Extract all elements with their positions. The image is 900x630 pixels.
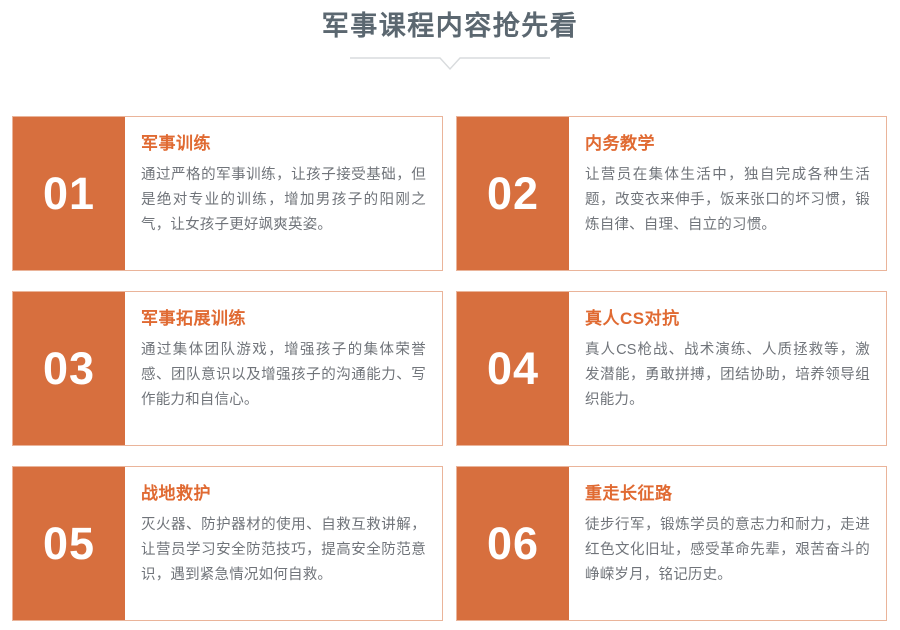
- card-body: 内务教学 让营员在集体生活中，独自完成各种生活题，改变衣来伸手，饭来张口的坏习惯…: [569, 117, 886, 270]
- card-number-block: 01: [13, 117, 125, 270]
- card-description: 徒步行军，锻炼学员的意志力和耐力，走进红色文化旧址，感受革命先辈，艰苦奋斗的峥嵘…: [585, 513, 870, 588]
- card-description: 通过集体团队游戏，增强孩子的集体荣誉感、团队意识以及增强孩子的沟通能力、写作能力…: [141, 338, 426, 413]
- page-header: 军事课程内容抢先看: [0, 0, 900, 100]
- card-number: 04: [487, 346, 539, 391]
- card-number-block: 03: [13, 292, 125, 445]
- card-description: 真人CS枪战、战术演练、人质拯救等，激发潜能，勇敢拼搏，团结协助，培养领导组织能…: [585, 338, 870, 413]
- card-body: 重走长征路 徒步行军，锻炼学员的意志力和耐力，走进红色文化旧址，感受革命先辈，艰…: [569, 467, 886, 620]
- course-card[interactable]: 05 战地救护 灭火器、防护器材的使用、自救互救讲解，让营员学习安全防范技巧，提…: [12, 466, 443, 621]
- course-card[interactable]: 01 军事训练 通过严格的军事训练，让孩子接受基础，但是绝对专业的训练，增加男孩…: [12, 116, 443, 271]
- card-title: 军事训练: [141, 134, 426, 154]
- card-number: 06: [487, 521, 539, 566]
- card-body: 军事拓展训练 通过集体团队游戏，增强孩子的集体荣誉感、团队意识以及增强孩子的沟通…: [125, 292, 442, 445]
- card-body: 军事训练 通过严格的军事训练，让孩子接受基础，但是绝对专业的训练，增加男孩子的阳…: [125, 117, 442, 270]
- card-number-block: 06: [457, 467, 569, 620]
- card-title: 战地救护: [141, 484, 426, 504]
- course-card[interactable]: 06 重走长征路 徒步行军，锻炼学员的意志力和耐力，走进红色文化旧址，感受革命先…: [456, 466, 887, 621]
- card-description: 让营员在集体生活中，独自完成各种生活题，改变衣来伸手，饭来张口的坏习惯，锻炼自律…: [585, 163, 870, 238]
- card-number-block: 04: [457, 292, 569, 445]
- card-number: 02: [487, 171, 539, 216]
- card-description: 灭火器、防护器材的使用、自救互救讲解，让营员学习安全防范技巧，提高安全防范意识，…: [141, 513, 426, 588]
- card-title: 真人CS对抗: [585, 309, 870, 329]
- page-title: 军事课程内容抢先看: [0, 0, 900, 46]
- card-number: 01: [43, 171, 95, 216]
- card-number: 03: [43, 346, 95, 391]
- course-card[interactable]: 04 真人CS对抗 真人CS枪战、战术演练、人质拯救等，激发潜能，勇敢拼搏，团结…: [456, 291, 887, 446]
- course-card[interactable]: 03 军事拓展训练 通过集体团队游戏，增强孩子的集体荣誉感、团队意识以及增强孩子…: [12, 291, 443, 446]
- title-divider-icon: [350, 52, 550, 74]
- card-description: 通过严格的军事训练，让孩子接受基础，但是绝对专业的训练，增加男孩子的阳刚之气，让…: [141, 163, 426, 238]
- card-body: 真人CS对抗 真人CS枪战、战术演练、人质拯救等，激发潜能，勇敢拼搏，团结协助，…: [569, 292, 886, 445]
- card-number: 05: [43, 521, 95, 566]
- card-title: 军事拓展训练: [141, 309, 426, 329]
- page-root: 军事课程内容抢先看 01 军事训练 通过严格的军事训练，让孩子接受基础，但是绝对…: [0, 0, 900, 630]
- card-title: 重走长征路: [585, 484, 870, 504]
- card-title: 内务教学: [585, 134, 870, 154]
- card-body: 战地救护 灭火器、防护器材的使用、自救互救讲解，让营员学习安全防范技巧，提高安全…: [125, 467, 442, 620]
- course-card-grid: 01 军事训练 通过严格的军事训练，让孩子接受基础，但是绝对专业的训练，增加男孩…: [12, 116, 888, 621]
- course-card[interactable]: 02 内务教学 让营员在集体生活中，独自完成各种生活题，改变衣来伸手，饭来张口的…: [456, 116, 887, 271]
- card-number-block: 05: [13, 467, 125, 620]
- card-number-block: 02: [457, 117, 569, 270]
